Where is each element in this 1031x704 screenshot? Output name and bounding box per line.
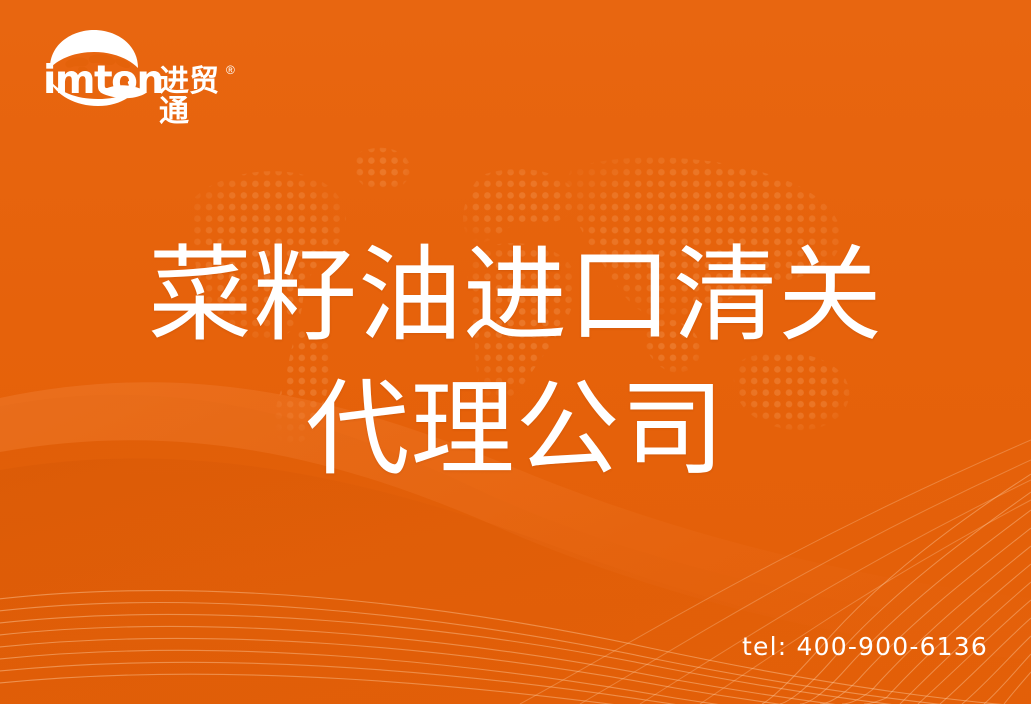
brand-logo[interactable]: imton 进贸通 ® (36, 26, 246, 110)
page-title: 菜籽油进口清关 代理公司 (0, 228, 1031, 496)
logo-wordmark: imton (43, 61, 163, 100)
poster-canvas: imton 进贸通 ® 菜籽油进口清关 代理公司 tel: 400-900-61… (0, 0, 1031, 704)
registered-trademark-icon: ® (226, 63, 235, 77)
page-title-line-1: 菜籽油进口清关 (0, 228, 1031, 362)
page-title-line-2: 代理公司 (0, 362, 1031, 496)
contact-phone[interactable]: tel: 400-900-6136 (742, 633, 988, 661)
